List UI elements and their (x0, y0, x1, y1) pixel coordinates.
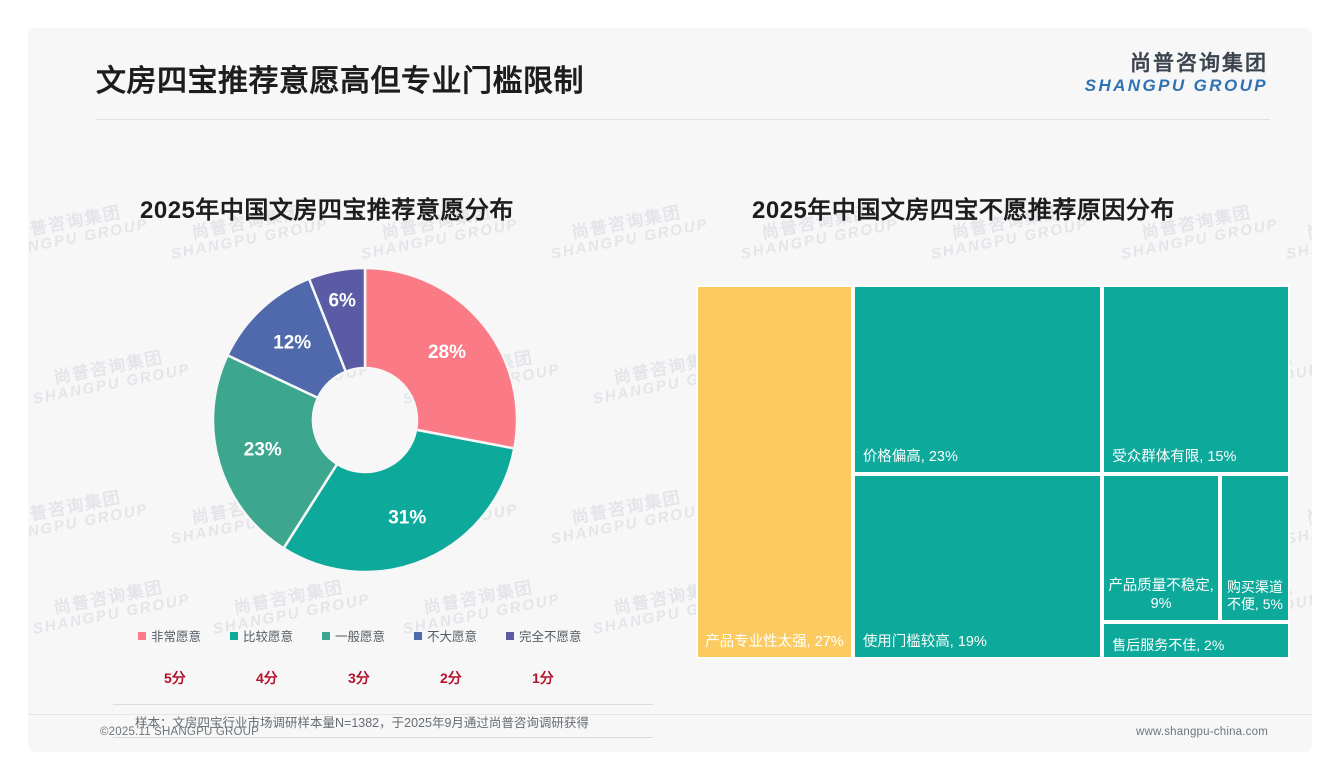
treemap-cell-3[interactable]: 使用门槛较高, 19% (853, 474, 1102, 659)
legend-label: 一般愿意 (335, 626, 385, 645)
legend-swatch-icon (414, 632, 422, 640)
watermark-tile: 尚普咨询集团SHANGPU GROUP (546, 198, 710, 264)
legend-label: 完全不愿意 (519, 626, 582, 645)
watermark-tile: 尚普咨询集团SHANGPU GROUP (1281, 198, 1312, 264)
legend-item-2[interactable]: 比较愿意 (230, 626, 322, 645)
donut-legend: 非常愿意比较愿意一般愿意不大愿意完全不愿意 (138, 626, 678, 645)
score-label-5: 1分 (506, 668, 610, 688)
slide-canvas: 尚普咨询集团SHANGPU GROUP尚普咨询集团SHANGPU GROUP尚普… (28, 28, 1312, 752)
treemap-cell-1[interactable]: 产品专业性太强, 27% (696, 285, 853, 659)
donut-score-row: 5分4分3分2分1分 (138, 668, 678, 688)
donut-slice-label-4: 12% (273, 332, 311, 353)
watermark-tile: 尚普咨询集团SHANGPU GROUP (546, 483, 710, 549)
footer-divider (28, 714, 1312, 715)
left-chart-title: 2025年中国文房四宝推荐意愿分布 (140, 190, 514, 225)
treemap-cell-label: 售后服务不佳, 2% (1112, 637, 1282, 655)
watermark-tile: 尚普咨询集团SHANGPU GROUP (28, 343, 192, 409)
treemap-cell-6[interactable]: 购买渠道不便, 5% (1220, 474, 1290, 622)
right-chart-title: 2025年中国文房四宝不愿推荐原因分布 (752, 190, 1175, 225)
treemap-cell-label: 产品专业性太强, 27% (702, 633, 847, 651)
watermark-tile: 尚普咨询集团SHANGPU GROUP (28, 483, 150, 549)
footer-website: www.shangpu-china.com (1136, 726, 1268, 738)
legend-swatch-icon (138, 632, 146, 640)
legend-label: 不大愿意 (427, 626, 477, 645)
legend-swatch-icon (506, 632, 514, 640)
treemap-cell-label: 价格偏高, 23% (863, 448, 1094, 466)
treemap-cell-label: 产品质量不稳定, 9% (1108, 577, 1214, 613)
legend-label: 比较愿意 (243, 626, 293, 645)
donut-slice-label-2: 31% (388, 508, 426, 529)
score-label-3: 3分 (322, 668, 414, 688)
legend-item-1[interactable]: 非常愿意 (138, 626, 230, 645)
donut-chart: 28%31%23%12%6% (195, 250, 535, 590)
legend-swatch-icon (322, 632, 330, 640)
header-divider (96, 119, 1270, 120)
score-label-4: 2分 (414, 668, 506, 688)
legend-item-3[interactable]: 一般愿意 (322, 626, 414, 645)
score-label-1: 5分 (138, 668, 230, 688)
treemap-chart: 产品专业性太强, 27%价格偏高, 23%使用门槛较高, 19%受众群体有限, … (696, 285, 1290, 659)
legend-swatch-icon (230, 632, 238, 640)
treemap-cell-5[interactable]: 产品质量不稳定, 9% (1102, 474, 1220, 622)
donut-slice-label-5: 6% (328, 291, 356, 312)
legend-label: 非常愿意 (151, 626, 201, 645)
treemap-cell-label: 使用门槛较高, 19% (863, 633, 1094, 651)
legend-item-4[interactable]: 不大愿意 (414, 626, 506, 645)
slide-header: 文房四宝推荐意愿高但专业门槛限制 尚普咨询集团 SHANGPU GROUP (28, 28, 1312, 120)
treemap-cell-2[interactable]: 价格偏高, 23% (853, 285, 1102, 474)
donut-slice-label-1: 28% (428, 342, 466, 363)
score-label-2: 4分 (230, 668, 322, 688)
treemap-cell-label: 购买渠道不便, 5% (1226, 579, 1284, 614)
logo-text-en: SHANGPU GROUP (1085, 76, 1268, 96)
footer-copyright: ©2025.11 SHANGPU GROUP (100, 726, 259, 738)
treemap-cell-7[interactable]: 售后服务不佳, 2% (1102, 622, 1290, 659)
donut-slice-label-3: 23% (244, 440, 282, 461)
brand-logo: 尚普咨询集团 SHANGPU GROUP (1085, 52, 1268, 97)
page-title: 文房四宝推荐意愿高但专业门槛限制 (96, 56, 584, 100)
donut-chart-svg: 28%31%23%12%6% (195, 250, 535, 590)
logo-text-cn: 尚普咨询集团 (1085, 52, 1268, 76)
slide-footer: ©2025.11 SHANGPU GROUP www.shangpu-china… (28, 714, 1312, 752)
treemap-cell-label: 受众群体有限, 15% (1112, 448, 1282, 466)
watermark-tile: 尚普咨询集团SHANGPU GROUP (28, 198, 150, 264)
treemap-cell-4[interactable]: 受众群体有限, 15% (1102, 285, 1290, 474)
legend-item-5[interactable]: 完全不愿意 (506, 626, 610, 645)
